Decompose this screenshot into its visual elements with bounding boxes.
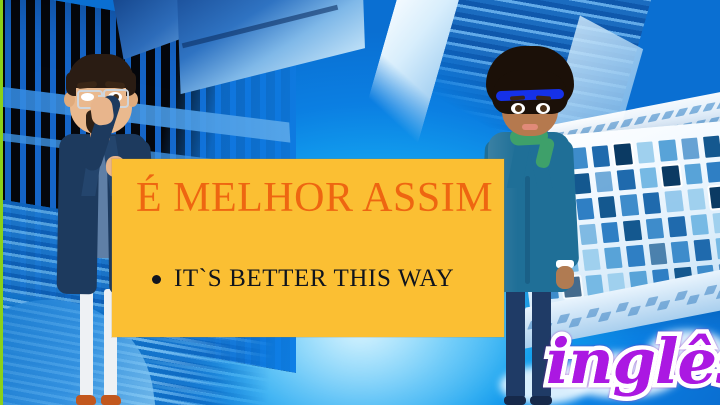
man-hair-sideburn-left <box>66 72 76 96</box>
building-window <box>709 186 720 208</box>
building-window <box>704 285 718 296</box>
building-window <box>661 110 674 120</box>
woman-left-leg <box>506 287 525 399</box>
woman-right-pupil <box>540 105 547 112</box>
building-window <box>636 141 655 163</box>
man-right-shoe <box>101 395 121 405</box>
building-window <box>668 216 687 238</box>
building-window <box>626 245 645 267</box>
building-window <box>716 288 720 299</box>
building-window <box>598 311 612 322</box>
video-frame: É MELHOR ASSIM IT`S BETTER THIS WAY ingl… <box>0 0 720 405</box>
left-edge-strip <box>0 0 3 405</box>
building-window <box>681 137 700 159</box>
building-window <box>615 302 629 313</box>
building-window <box>702 102 715 112</box>
building-window <box>642 192 661 214</box>
bullet-icon <box>152 275 161 284</box>
building-window <box>674 290 688 301</box>
building-window <box>649 243 668 265</box>
channel-logo: inglês inglês <box>546 322 720 402</box>
building-window <box>693 239 712 261</box>
building-window <box>646 217 665 239</box>
woman-right-hand <box>556 266 574 289</box>
building-window <box>712 212 720 234</box>
building-window <box>645 296 659 307</box>
caption-subtitle-row: IT`S BETTER THIS WAY <box>152 265 454 293</box>
building-window <box>684 163 703 185</box>
building-window <box>671 241 690 263</box>
building-window <box>617 169 636 191</box>
building-window <box>657 300 671 311</box>
building-window <box>675 107 688 117</box>
building-window <box>703 136 720 158</box>
man-left-shoe <box>76 395 96 405</box>
building-window <box>647 113 660 123</box>
building-window <box>620 194 639 216</box>
building-window <box>606 121 619 131</box>
building-window <box>639 167 658 189</box>
building-window <box>623 219 642 241</box>
building-window <box>690 214 709 236</box>
caption-title-portuguese: É MELHOR ASSIM <box>136 177 596 219</box>
woman-left-pupil <box>515 105 522 112</box>
man-left-leg <box>80 289 93 397</box>
building-window <box>634 115 647 125</box>
building-window <box>665 190 684 212</box>
building-window <box>598 196 617 218</box>
building-window <box>715 237 720 259</box>
building-window <box>601 221 620 243</box>
building-window <box>687 188 706 210</box>
building-window <box>595 171 614 193</box>
woman-mouth <box>522 124 538 130</box>
building-window <box>604 247 623 269</box>
building-window <box>614 143 633 165</box>
building-window <box>620 118 633 128</box>
building-window <box>706 161 720 183</box>
caption-subtitle-english: IT`S BETTER THIS WAY <box>174 265 454 293</box>
building-window <box>689 105 702 115</box>
channel-logo-text: inglês <box>546 322 720 402</box>
building-window <box>662 165 681 187</box>
building-window <box>627 306 641 317</box>
caption-banner: É MELHOR ASSIM IT`S BETTER THIS WAY <box>112 159 504 337</box>
building-window <box>686 294 700 305</box>
woman-left-shoe <box>504 396 526 405</box>
building-window <box>716 99 720 109</box>
building-window <box>658 139 677 161</box>
